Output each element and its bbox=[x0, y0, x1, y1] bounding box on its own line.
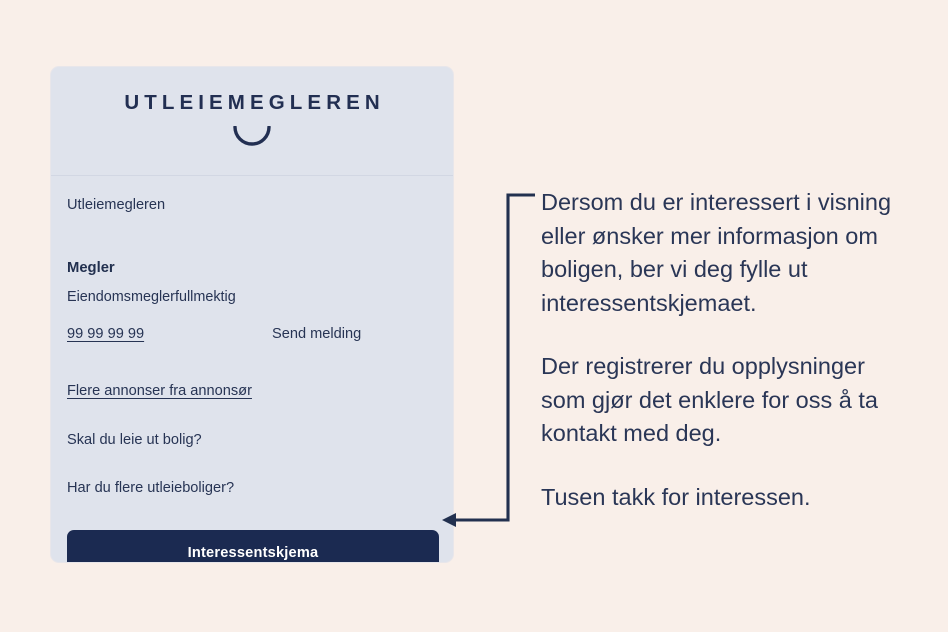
card-body: Utleiemegleren Megler Eiendomsmeglerfull… bbox=[51, 176, 453, 563]
annotation-paragraph-2: Der registrerer du opplysninger som gjør… bbox=[541, 350, 911, 451]
multiple-rentals-link[interactable]: Har du flere utleieboliger? bbox=[67, 481, 437, 496]
brand-wordmark: UTLEIEMEGLEREN bbox=[119, 93, 385, 114]
annotation-text-block: Dersom du er interessert i visning eller… bbox=[541, 186, 911, 514]
smile-arc-icon bbox=[232, 126, 272, 147]
rent-out-home-link[interactable]: Skal du leie ut bolig? bbox=[67, 433, 437, 448]
company-name: Utleiemegleren bbox=[67, 198, 437, 213]
interest-form-button[interactable]: Interessentskjema bbox=[67, 530, 439, 563]
agent-title: Eiendomsmeglerfullmektig bbox=[67, 290, 437, 304]
card-header: UTLEIEMEGLEREN bbox=[51, 67, 453, 176]
agent-contact-card: UTLEIEMEGLEREN Utleiemegleren Megler Eie… bbox=[50, 66, 454, 563]
contact-row: 99 99 99 99 Send melding bbox=[67, 326, 437, 342]
callout-connector-arrow bbox=[440, 185, 550, 530]
send-message-link[interactable]: Send melding bbox=[272, 326, 361, 342]
annotation-paragraph-3: Tusen takk for interessen. bbox=[541, 481, 911, 515]
agent-name: Megler bbox=[67, 260, 437, 276]
more-ads-from-advertiser-link[interactable]: Flere annonser fra annonsør bbox=[67, 383, 252, 399]
annotation-paragraph-1: Dersom du er interessert i visning eller… bbox=[541, 186, 911, 320]
phone-link[interactable]: 99 99 99 99 bbox=[67, 326, 272, 342]
